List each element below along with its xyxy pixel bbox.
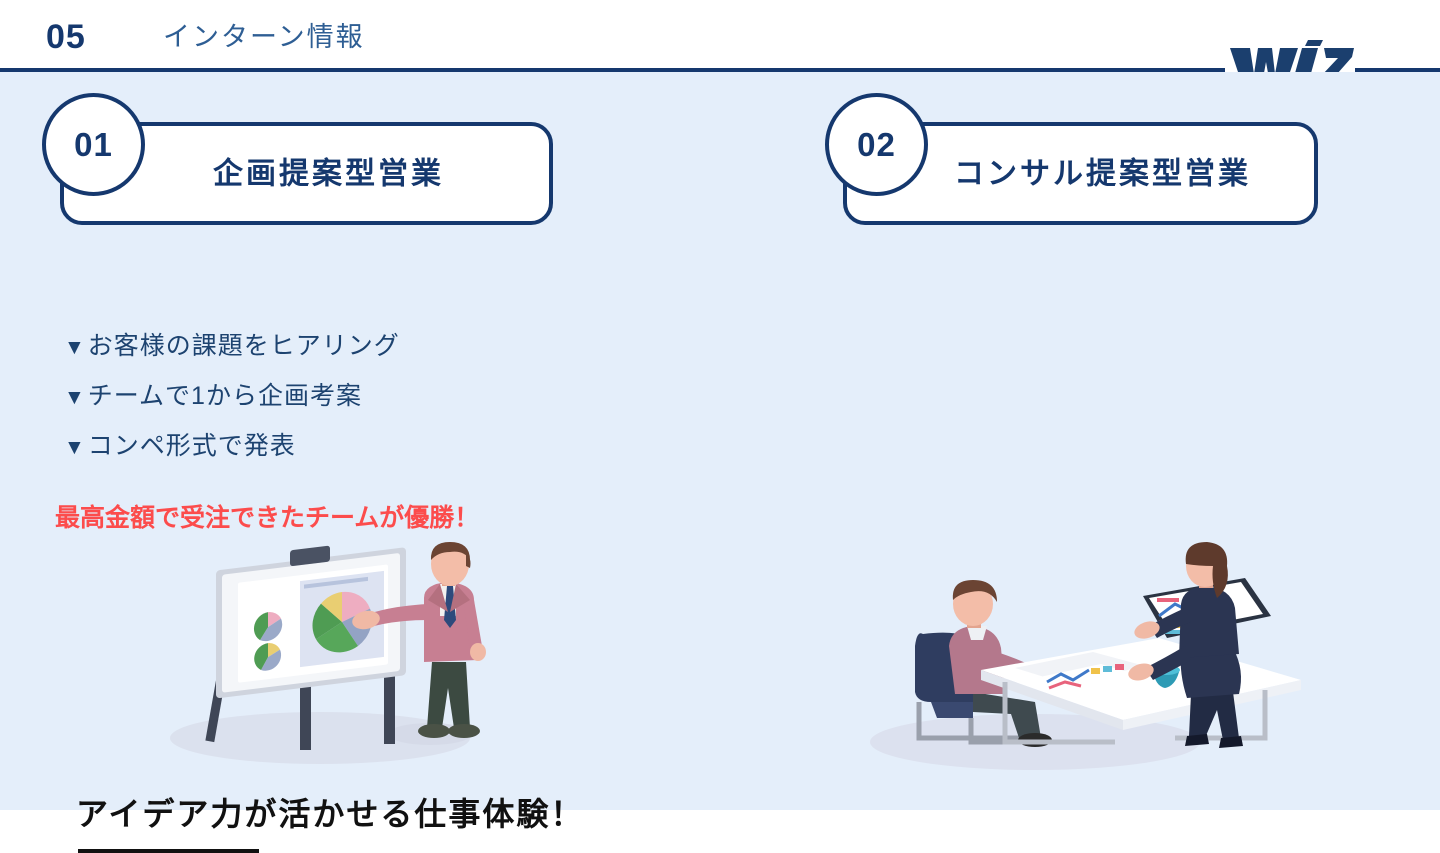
list-item-label: コンペ形式で発表 (88, 432, 296, 460)
caption-01: アイデア力が活かせる仕事体験！ (76, 798, 584, 830)
list-item-label: チームで1から企画考案 (88, 382, 362, 410)
page-title: インターン情報 (163, 24, 365, 51)
slide-header: 05 インターン情報 (0, 0, 1440, 72)
bullet-marker-icon: ▼ (64, 436, 86, 459)
presentation-easel-illustration (0, 542, 640, 772)
card-badge-number-02: 02 (829, 97, 924, 192)
card-badge-number-01: 01 (46, 97, 141, 192)
bullet-marker-icon: ▼ (64, 336, 86, 359)
list-item: ▼コンペ形式で発表 (64, 434, 400, 459)
list-item: ▼チームで1から企画考案 (64, 384, 400, 409)
slide-body: 企画提案型営業 01 ▼お客様の課題をヒアリング ▼チームで1から企画考案 ▼コ… (0, 72, 1440, 810)
slide-root: 05 インターン情報 企画提案型営業 (0, 0, 1440, 810)
bullet-marker-icon: ▼ (64, 386, 86, 409)
consulting-meeting-illustration (705, 542, 1345, 772)
section-number: 05 (46, 20, 86, 54)
list-item: ▼お客様の課題をヒアリング (64, 334, 400, 359)
card-badge-01: 01 (42, 93, 145, 196)
caption-underline-01 (78, 849, 259, 853)
card-badge-02: 02 (825, 93, 928, 196)
list-item-label: お客様の課題をヒアリング (88, 332, 400, 360)
highlight-text-01: 最高金額で受注できたチームが優勝！ (55, 506, 479, 531)
bullet-list-01: ▼お客様の課題をヒアリング ▼チームで1から企画考案 ▼コンペ形式で発表 (64, 334, 400, 484)
